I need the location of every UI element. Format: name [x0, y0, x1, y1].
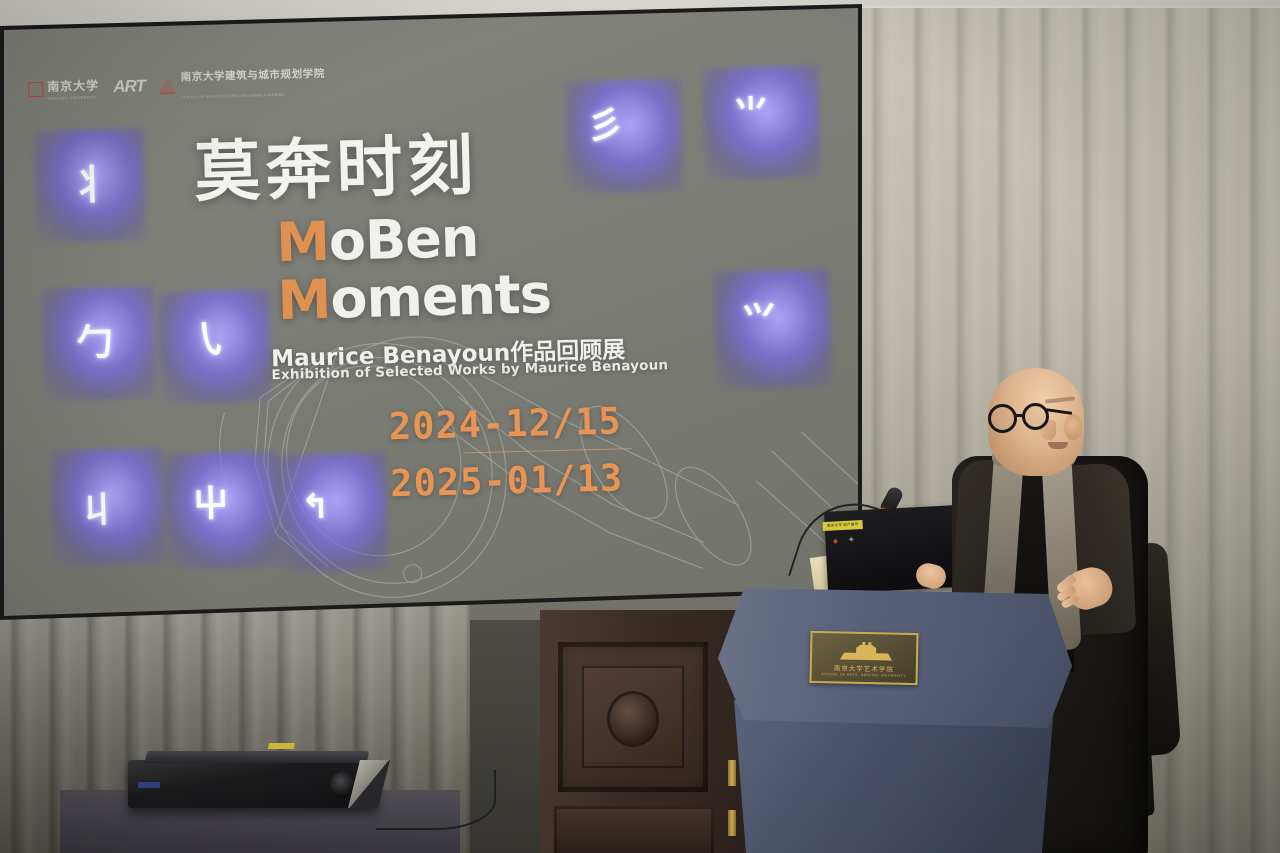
glasses-left-lens	[988, 404, 1017, 433]
glyph-art-9: ⺍	[742, 302, 777, 337]
moben-accent-m: M	[275, 210, 329, 274]
poster-title-cn: 莫奔时刻	[193, 112, 479, 215]
presentation-photo-scene: 丬 勹 ㇂ 丩 屮 ↰ 彡 ⺌ ⺍ 南京大学 NANJING UNIVERSIT…	[0, 0, 1280, 853]
school-triangle-icon	[159, 78, 176, 94]
glyph-art-1: 丬	[70, 165, 111, 206]
glasses-bridge	[1016, 414, 1024, 417]
glyph-art-6: ↰	[301, 490, 330, 525]
laptop-sticker-text: 南京大学 资产编号	[822, 520, 862, 531]
podium-plaque: 南京大学艺术学院 SCHOOL OF ARTS, NANJING UNIVERS…	[809, 631, 918, 685]
door-hinge-upper	[728, 760, 736, 786]
door-lower-panel	[554, 806, 714, 853]
laptop-brand-logo: ✦	[847, 534, 855, 545]
nju-logo: 南京大学 NANJING UNIVERSITY	[28, 76, 100, 101]
speaker-eyebrow	[1045, 396, 1075, 403]
projector-asset-sticker	[268, 743, 295, 749]
poster-title-en-line2: Moments	[277, 262, 552, 332]
moben-rest: oBen	[328, 206, 479, 273]
plaque-text-en: SCHOOL OF ARTS, NANJING UNIVERSITY	[812, 672, 916, 678]
door-carved-panel	[558, 642, 708, 792]
poster-date-start: 2024-12/15	[388, 399, 622, 448]
glasses-right-lens	[1022, 403, 1049, 430]
wooden-door[interactable]	[540, 610, 750, 853]
projection-screen: 丬 勹 ㇂ 丩 屮 ↰ 彡 ⺌ ⺍ 南京大学 NANJING UNIVERSIT…	[0, 0, 875, 625]
glyph-art-4: 丩	[81, 493, 116, 528]
art-mark-text: ART	[113, 76, 145, 96]
art-mark-logo: ART	[113, 76, 145, 97]
glow-tile-6	[274, 452, 389, 573]
projection-screen-assembly: 丬 勹 ㇂ 丩 屮 ↰ 彡 ⺌ ⺍ 南京大学 NANJING UNIVERSIT…	[0, 0, 875, 625]
door-hinge-lower	[728, 810, 736, 836]
door-medallion-relief	[610, 694, 656, 744]
school-logo-en: SCHOOL OF ARCHITECTURE AND URBAN PLANNIN…	[181, 93, 285, 100]
power-cable	[376, 770, 496, 830]
glyph-art-7: 彡	[587, 108, 624, 145]
nju-logo-en: NANJING UNIVERSITY	[47, 94, 99, 100]
exhibition-poster: 丬 勹 ㇂ 丩 屮 ↰ 彡 ⺌ ⺍ 南京大学 NANJING UNIVERSIT…	[0, 0, 875, 620]
nju-logo-cn: 南京大学	[47, 78, 99, 93]
moments-rest: oments	[330, 262, 552, 331]
moments-accent-m: M	[277, 268, 331, 332]
nju-seal-icon	[28, 81, 43, 96]
laptop-indicator-dot	[833, 539, 837, 543]
building-icon	[838, 641, 894, 661]
projector-top-cover	[145, 751, 370, 763]
speaker-mouth	[1048, 442, 1068, 449]
glyph-art-2: 勹	[76, 325, 113, 362]
glyph-art-3: ㇂	[190, 320, 229, 359]
laser-projector[interactable]	[128, 760, 378, 808]
poster-date-end: 2025-01/13	[390, 456, 624, 505]
speaker-ear	[1064, 414, 1082, 440]
school-logo-cn: 南京大学建筑与城市规划学院	[181, 68, 326, 84]
projector-brand-logo	[138, 782, 160, 788]
laptop-asset-sticker: 南京大学 资产编号	[822, 520, 862, 531]
glyph-art-8: ⺌	[733, 97, 770, 134]
glyph-art-5: 屮	[192, 486, 229, 523]
poster-logo-strip: 南京大学 NANJING UNIVERSITY ART 南京大学建筑与城市规划学…	[28, 64, 326, 108]
